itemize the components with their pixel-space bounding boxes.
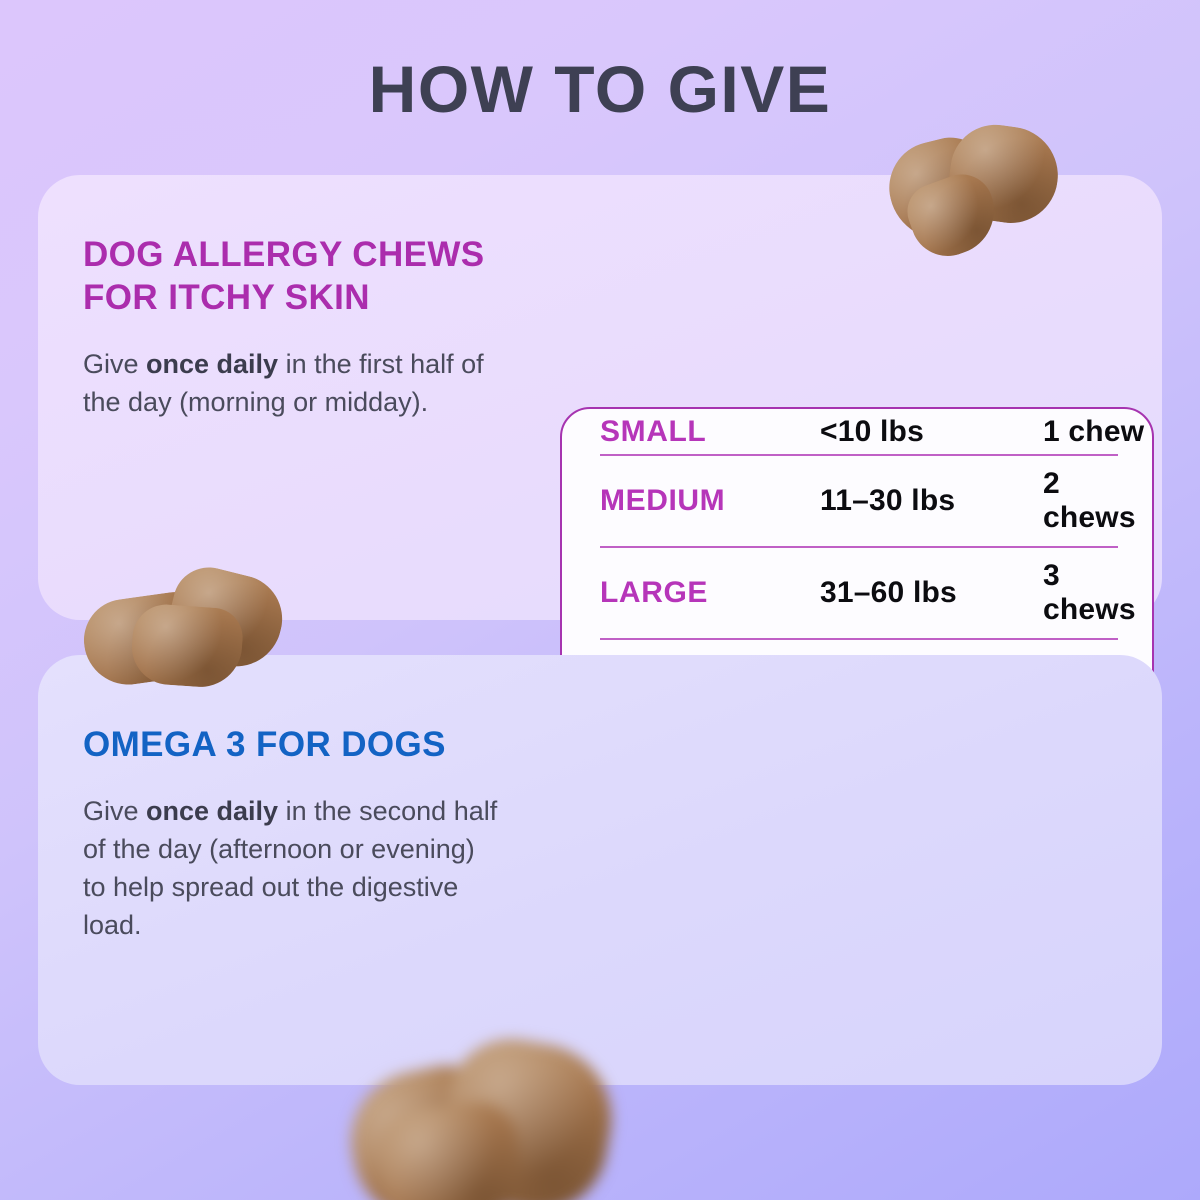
card-allergy-text-block: DOG ALLERGY CHEWS FOR ITCHY SKIN Give on… (83, 233, 503, 421)
row-dose: 2 chews (1025, 455, 1152, 547)
table-row: MEDIUM 11–30 lbs 2 chews (562, 455, 1152, 547)
row-size: LARGE (562, 547, 810, 639)
table-row: SMALL <10 lbs 1 chew (562, 409, 1152, 455)
row-weight: 11–30 lbs (810, 455, 1025, 547)
row-dose: 1 chew (1025, 409, 1152, 455)
card-dog-allergy-chews: DOG ALLERGY CHEWS FOR ITCHY SKIN Give on… (38, 175, 1162, 620)
poster-canvas: HOW TO GIVE DOG ALLERGY CHEWS FOR ITCHY … (0, 0, 1200, 1200)
card-allergy-heading: DOG ALLERGY CHEWS FOR ITCHY SKIN (83, 233, 503, 319)
page-title: HOW TO GIVE (0, 52, 1200, 126)
card-omega-text-block: OMEGA 3 FOR DOGS Give once daily in the … (83, 723, 503, 944)
card-omega-body-before: Give (83, 796, 146, 826)
row-size: MEDIUM (562, 455, 810, 547)
card-omega-body-emphasis: once daily (146, 796, 278, 826)
row-size: SMALL (562, 409, 810, 455)
card-allergy-body-before: Give (83, 349, 146, 379)
row-weight: 31–60 lbs (810, 547, 1025, 639)
card-omega-heading: OMEGA 3 FOR DOGS (83, 723, 503, 766)
card-allergy-body: Give once daily in the first half of the… (83, 345, 503, 421)
row-weight: <10 lbs (810, 409, 1025, 455)
card-omega-body: Give once daily in the second half of th… (83, 792, 503, 944)
row-dose: 3 chews (1025, 547, 1152, 639)
chew-tip (374, 1099, 526, 1200)
table-row: LARGE 31–60 lbs 3 chews (562, 547, 1152, 639)
card-omega-3-for-dogs: OMEGA 3 FOR DOGS Give once daily in the … (38, 655, 1162, 1085)
card-allergy-body-emphasis: once daily (146, 349, 278, 379)
